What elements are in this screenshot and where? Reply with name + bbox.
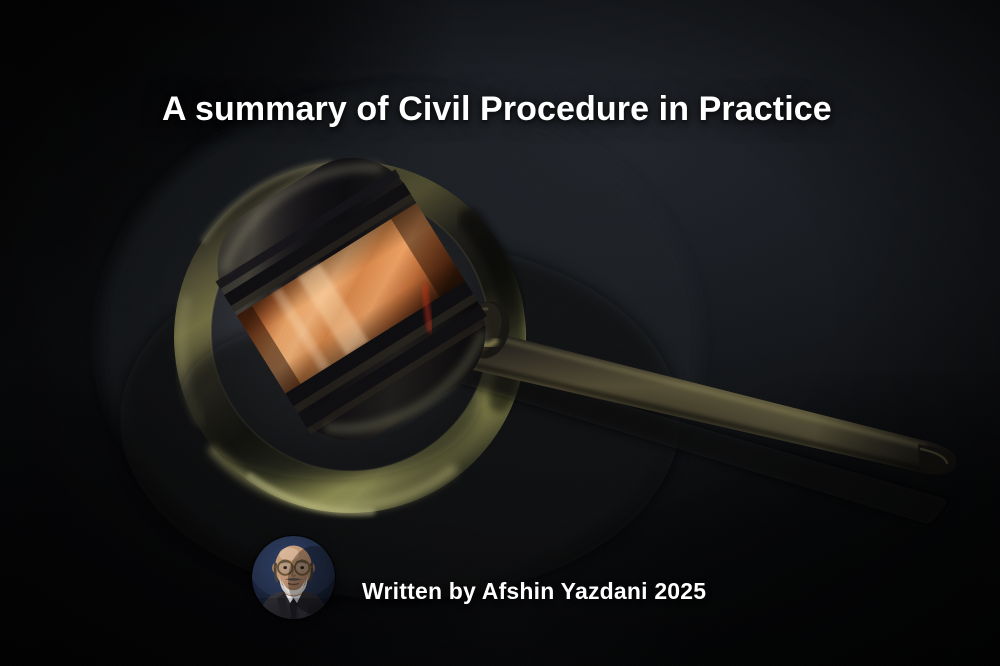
title-card: A summary of Civil Procedure in Practice — [0, 0, 1000, 666]
author-portrait-icon — [252, 536, 335, 619]
avatar — [252, 536, 335, 619]
author-byline: Written by Afshin Yazdani 2025 — [362, 578, 706, 605]
page-title: A summary of Civil Procedure in Practice — [162, 90, 832, 129]
